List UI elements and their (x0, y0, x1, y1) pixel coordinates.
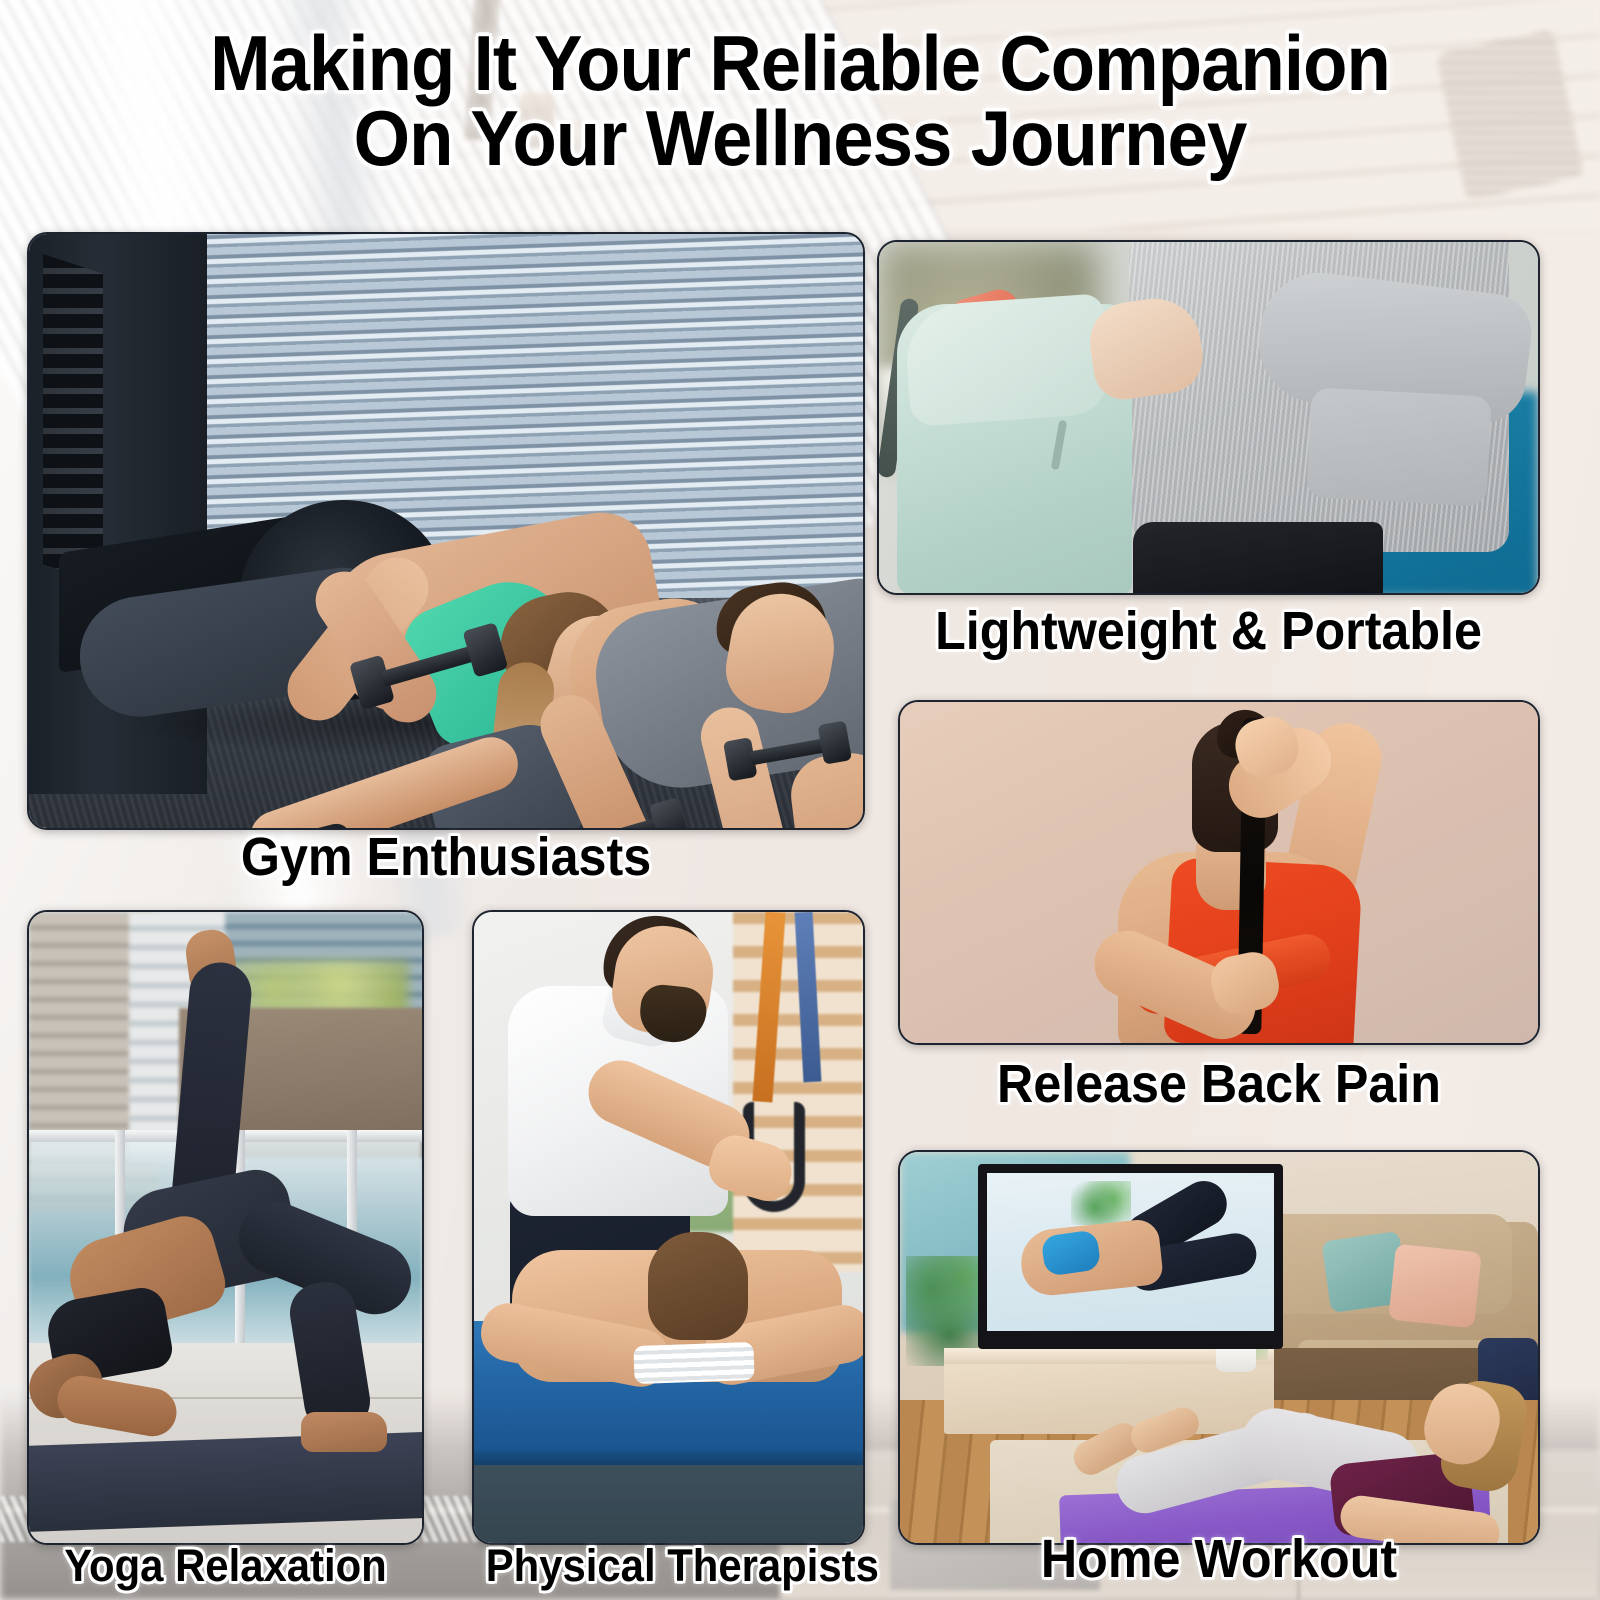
photo-panel-home-workout[interactable] (898, 1150, 1540, 1545)
pink-pillow (1388, 1244, 1481, 1329)
photo-panel-lightweight-portable[interactable] (877, 240, 1540, 595)
caption-home-workout: Home Workout (920, 1528, 1517, 1590)
black-leggings (1133, 522, 1383, 595)
gym-scene (29, 234, 863, 828)
patient-head (648, 1232, 748, 1340)
photo-panel-release-back-pain[interactable] (898, 700, 1540, 1045)
photo-panel-physical-therapists[interactable] (472, 910, 865, 1545)
home-workout-scene (900, 1152, 1538, 1543)
back-pain-scene (900, 702, 1538, 1043)
backpack-flap (903, 293, 1111, 427)
caption-gym-enthusiasts: Gym Enthusiasts (56, 826, 835, 888)
planted-foot (301, 1412, 387, 1452)
tv-screen (987, 1173, 1274, 1331)
folded-white-towel (633, 1342, 754, 1384)
television (978, 1164, 1283, 1349)
tv-video-plant (1071, 1181, 1131, 1225)
page-title: Making It Your Reliable Companion On You… (56, 26, 1544, 176)
hoodie-pocket (1306, 387, 1492, 506)
photo-panel-gym-enthusiasts[interactable] (27, 232, 865, 830)
headline-line-2: On Your Wellness Journey (56, 101, 1544, 176)
physical-therapy-scene (474, 912, 863, 1543)
photo-panel-yoga-relaxation[interactable] (27, 910, 424, 1545)
caption-physical-therapists: Physical Therapists (486, 1540, 851, 1592)
caption-yoga-relaxation: Yoga Relaxation (41, 1540, 410, 1592)
lightweight-scene (879, 242, 1538, 593)
yoga-scene (29, 912, 422, 1543)
caption-release-back-pain: Release Back Pain (920, 1053, 1517, 1115)
caption-lightweight-portable: Lightweight & Portable (900, 600, 1517, 662)
